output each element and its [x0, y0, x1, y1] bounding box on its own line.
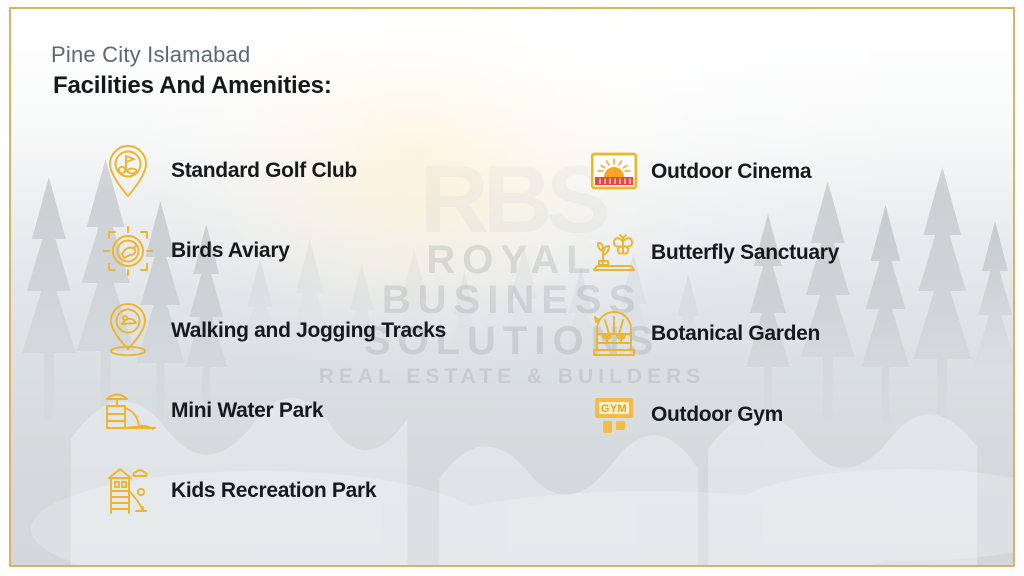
list-item[interactable]: Standard Golf Club — [99, 131, 446, 211]
list-item[interactable]: Botanical Garden — [589, 293, 839, 374]
list-item[interactable]: Walking and Jogging Tracks — [99, 291, 446, 371]
facility-label: Kids Recreation Park — [171, 479, 376, 503]
project-name: Pine City Islamabad — [51, 42, 332, 68]
butterfly-icon — [589, 228, 639, 278]
list-item[interactable]: Outdoor Cinema — [589, 131, 839, 212]
facility-label: Standard Golf Club — [171, 159, 357, 183]
facility-label: Outdoor Gym — [651, 403, 783, 427]
facility-label: Walking and Jogging Tracks — [171, 319, 446, 343]
water-slide-icon — [99, 382, 157, 440]
list-item[interactable]: Birds Aviary — [99, 211, 446, 291]
cinema-screen-icon — [589, 147, 639, 197]
gym-sign-icon: GYM — [589, 390, 639, 440]
list-item[interactable]: GYM Outdoor Gym — [589, 374, 839, 455]
facility-label: Outdoor Cinema — [651, 160, 811, 184]
walking-track-pin-icon — [99, 302, 157, 360]
list-item[interactable]: Butterfly Sanctuary — [589, 212, 839, 293]
bird-target-icon — [99, 222, 157, 280]
playground-icon — [99, 462, 157, 520]
header-block: Pine City Islamabad Facilities And Ameni… — [51, 42, 332, 101]
golf-pin-icon — [99, 142, 157, 200]
list-item[interactable]: Mini Water Park — [99, 371, 446, 451]
page-title: Facilities And Amenities: — [53, 72, 332, 101]
poster-frame: RBS ROYAL BUSINESS SOLUTIONS REAL ESTATE… — [9, 7, 1015, 567]
facility-label: Butterfly Sanctuary — [651, 241, 839, 265]
list-item[interactable]: Kids Recreation Park — [99, 451, 446, 531]
poster: RBS ROYAL BUSINESS SOLUTIONS REAL ESTATE… — [0, 0, 1024, 576]
facilities-column-right: Outdoor Cinema — [589, 131, 839, 455]
facility-label: Botanical Garden — [651, 322, 820, 346]
poster-content: Pine City Islamabad Facilities And Ameni… — [11, 9, 1013, 565]
facility-label: Birds Aviary — [171, 239, 290, 263]
svg-text:GYM: GYM — [601, 403, 627, 415]
facility-label: Mini Water Park — [171, 399, 323, 423]
greenhouse-icon — [589, 309, 639, 359]
facilities-column-left: Standard Golf Club Birds Aviary — [99, 131, 446, 531]
